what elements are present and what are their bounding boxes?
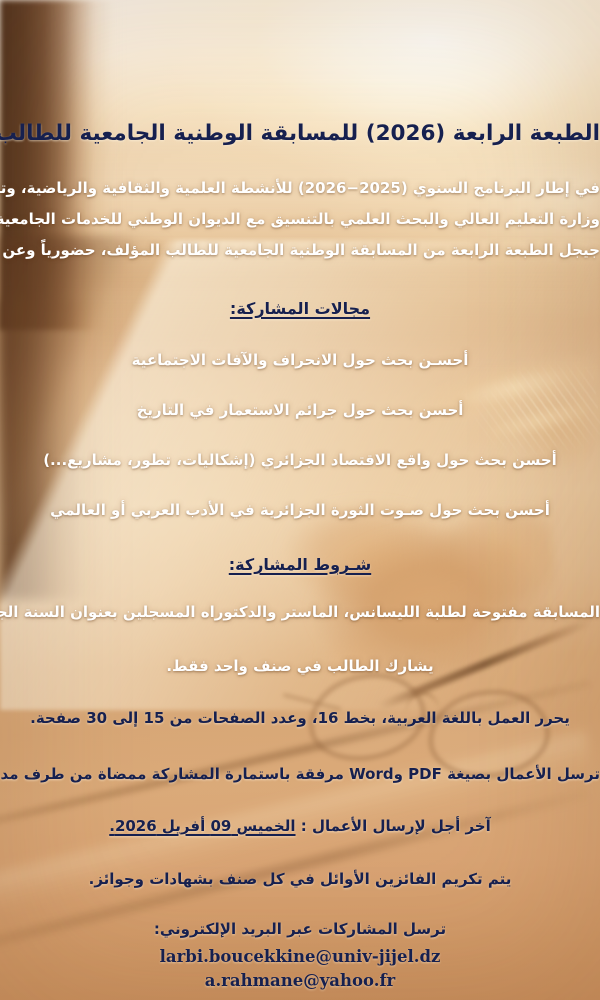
field-item-1: أحسـن بحث حول الانحراف والآفات الاجتماعي… bbox=[0, 352, 600, 369]
deadline-date: الخميس 09 أفريل 2026. bbox=[109, 817, 295, 835]
section-heading-conditions: شـروط المشاركة: bbox=[0, 556, 600, 574]
intro-line-2: وزارة التعليم العالي والبحث العلمي بالتن… bbox=[0, 211, 600, 228]
condition-item-3: يحرر العمل باللغة العربية، بخط 16، وعدد … bbox=[0, 710, 600, 727]
field-item-2: أحسن بحث حول جرائم الاستعمار في التاريخ bbox=[0, 402, 600, 419]
page-title: الطبعة الرابعة (2026) للمسابقة الوطنية ا… bbox=[0, 122, 600, 147]
deadline-row: آخر أجل لإرسال الأعمال : الخميس 09 أفريل… bbox=[0, 818, 600, 835]
condition-item-2: يشارك الطالب في صنف واحد فقط. bbox=[0, 658, 600, 675]
field-item-3: أحسن بحث حول واقع الاقتصاد الجزائري (إشك… bbox=[0, 452, 600, 469]
condition-item-1: المسابقة مفتوحة لطلبة الليسانس، الماستر … bbox=[0, 604, 600, 621]
field-item-4: أحسن بحث حول صـوت الثورة الجزائرية في ال… bbox=[0, 502, 600, 519]
deadline-label: آخر أجل لإرسال الأعمال : bbox=[301, 817, 491, 835]
contact-email-2[interactable]: a.rahmane@yahoo.fr bbox=[0, 972, 600, 991]
intro-line-1: في إطار البرنامج السنوي (2025−2026) للأن… bbox=[0, 180, 600, 197]
awards-note: يتم تكريم الفائزين الأوائل في كل صنف بشه… bbox=[0, 871, 600, 888]
contact-label: ترسل المشاركات عبر البريد الإلكتروني: bbox=[0, 921, 600, 938]
intro-line-3: جيجل الطبعة الرابعة من المسابقة الوطنية … bbox=[0, 242, 600, 259]
section-heading-fields: مجالات المشاركة: bbox=[0, 300, 600, 318]
poster-content: الطبعة الرابعة (2026) للمسابقة الوطنية ا… bbox=[0, 0, 600, 1000]
contact-email-1[interactable]: larbi.boucekkine@univ-jijel.dz bbox=[0, 948, 600, 967]
condition-item-4: ترسل الأعمال بصيغة PDF وWord مرفقة باستم… bbox=[0, 766, 600, 783]
poster-canvas: الطبعة الرابعة (2026) للمسابقة الوطنية ا… bbox=[0, 0, 600, 1000]
